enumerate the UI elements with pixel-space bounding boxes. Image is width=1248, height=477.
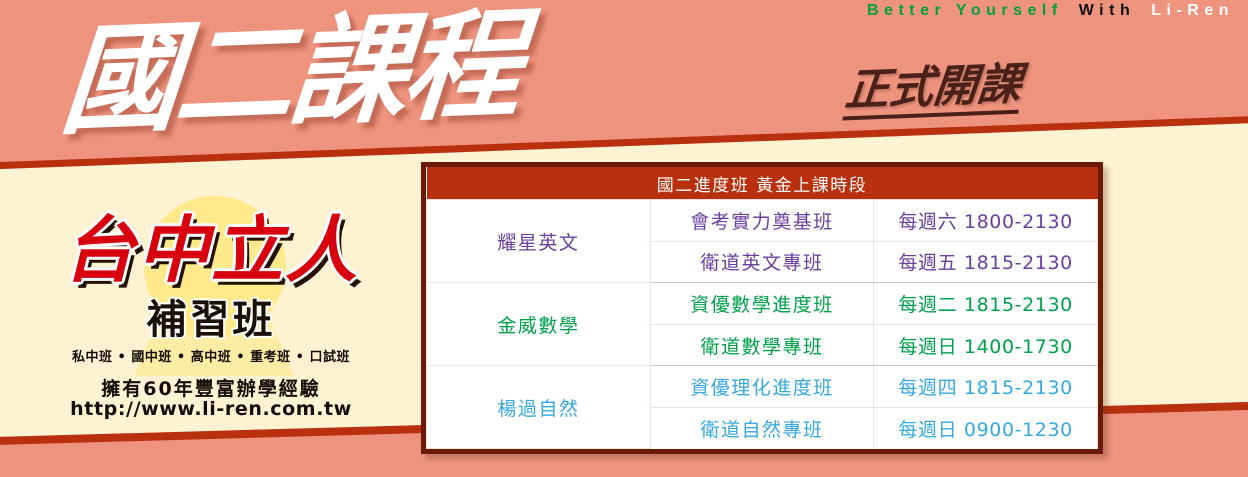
- schedule-table: 國二進度班 黃金上課時段 耀星英文會考實力奠基班每週六 1800-2130衛道英…: [426, 167, 1098, 449]
- logo-school-name: 台中立人: [26, 214, 396, 286]
- tagline-part2: With: [1079, 2, 1136, 19]
- course-cell: 衛道數學專班: [650, 324, 874, 366]
- logo-class-list: 私中班 • 國中班 • 高中班 • 重考班 • 口試班: [26, 346, 396, 365]
- tagline-part3: Li-Ren: [1151, 2, 1234, 19]
- schedule-table-header: 國二進度班 黃金上課時段: [427, 167, 1098, 200]
- table-row: 楊過自然資優理化進度班每週四 1815-2130: [427, 366, 1098, 408]
- course-cell: 衛道自然專班: [650, 408, 874, 449]
- schedule-table-body: 耀星英文會考實力奠基班每週六 1800-2130衛道英文專班每週五 1815-2…: [427, 200, 1098, 449]
- tagline: Better YourselfWithLi-Ren: [0, 2, 1248, 20]
- course-cell: 資優理化進度班: [650, 366, 874, 408]
- teacher-cell: 金威數學: [427, 283, 651, 366]
- table-row: 金威數學資優數學進度班每週二 1815-2130: [427, 283, 1098, 325]
- logo-experience: 擁有60年豐富辦學經驗: [26, 374, 396, 401]
- teacher-cell: 楊過自然: [427, 366, 651, 449]
- page-subtitle: 正式開課: [842, 63, 1023, 121]
- tagline-part1: Better Yourself: [867, 2, 1063, 19]
- page-title: 國二課程: [57, 5, 523, 141]
- course-cell: 資優數學進度班: [650, 283, 874, 325]
- time-cell: 每週二 1815-2130: [874, 283, 1098, 325]
- time-cell: 每週四 1815-2130: [874, 366, 1098, 408]
- time-cell: 每週六 1800-2130: [874, 200, 1098, 242]
- logo-website-url[interactable]: http://www.li-ren.com.tw: [26, 398, 396, 420]
- time-cell: 每週五 1815-2130: [874, 241, 1098, 283]
- school-logo: 台中立人 補習班 私中班 • 國中班 • 高中班 • 重考班 • 口試班 擁有6…: [26, 186, 396, 436]
- schedule-table-container: 國二進度班 黃金上課時段 耀星英文會考實力奠基班每週六 1800-2130衛道英…: [421, 162, 1103, 454]
- teacher-cell: 耀星英文: [427, 200, 651, 283]
- course-cell: 會考實力奠基班: [650, 200, 874, 242]
- course-cell: 衛道英文專班: [650, 241, 874, 283]
- table-row: 耀星英文會考實力奠基班每週六 1800-2130: [427, 200, 1098, 242]
- logo-school-type: 補習班: [26, 300, 396, 340]
- time-cell: 每週日 1400-1730: [874, 324, 1098, 366]
- promo-banner: Better YourselfWithLi-Ren 國二課程 正式開課 台中立人…: [0, 0, 1248, 477]
- time-cell: 每週日 0900-1230: [874, 408, 1098, 449]
